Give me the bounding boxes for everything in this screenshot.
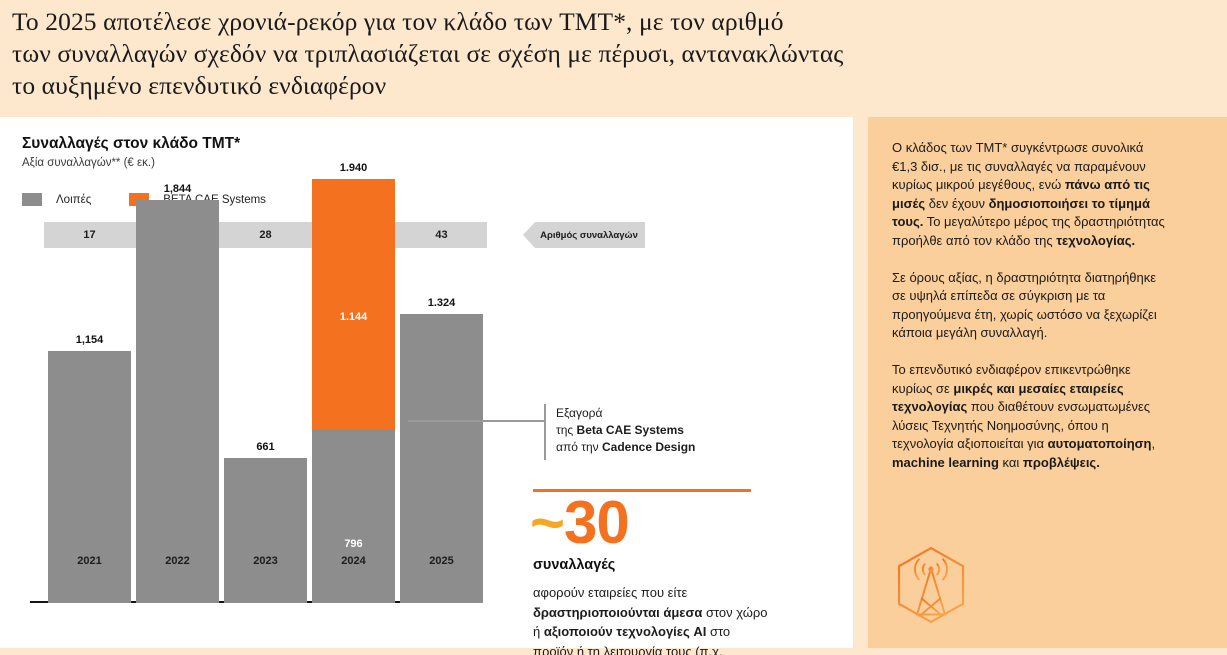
annotation-line-3: από την Cadence Design (556, 439, 806, 456)
bar-label-orange-2024: 1.144 (312, 311, 395, 323)
bar-total-2021: 1,154 (48, 334, 131, 346)
x-tick-2023: 2023 (224, 555, 307, 567)
bar-total-2024: 1.940 (312, 162, 395, 174)
x-tick-2025: 2025 (400, 555, 483, 567)
chart-title: Συναλλαγές στον κλάδο TMT* (22, 135, 240, 153)
commentary-paragraph-3: Το επενδυτικό ενδιαφέρον επικεντρώθηκε κ… (892, 361, 1172, 473)
deal-count-row: 17 29 28 15 43 (0, 222, 500, 248)
chart-subtitle: Αξία συναλλαγών** (€ εκ.) (22, 157, 155, 169)
legend-item-loipes: Λοιπές (22, 193, 91, 206)
deal-count-2025: 43 (396, 222, 487, 248)
annotation-line-2: της Beta CAE Systems (556, 422, 806, 439)
x-tick-2024: 2024 (312, 555, 395, 567)
legend-label-loipes: Λοιπές (56, 194, 91, 206)
bar-total-2023: 661 (224, 441, 307, 453)
slide-root: Το 2025 αποτέλεσε χρονιά-ρεκόρ για τον κ… (0, 0, 1227, 655)
commentary-paragraph-1: Ο κλάδος των TMT* συγκέντρωσε συνολικά €… (892, 139, 1172, 251)
deal-count-tag: Αριθμός συναλλαγών (523, 222, 645, 248)
x-tick-2022: 2022 (136, 555, 219, 567)
x-tick-2021: 2021 (48, 555, 131, 567)
annotation-text: Εξαγορά της Beta CAE Systems από την Cad… (556, 405, 806, 456)
bar-2025[interactable]: 1.324 2025 (400, 314, 483, 603)
annotation-beta-cae: Beta CAE Systems (577, 423, 684, 437)
bar-segment-grey-2022 (136, 200, 219, 603)
commentary-panel: Ο κλάδος των TMT* συγκέντρωσε συνολικά €… (868, 117, 1227, 648)
bar-label-grey-2024: 796 (312, 538, 395, 550)
annotation-leader-line (408, 420, 544, 422)
callout-word: συναλλαγές (533, 557, 615, 573)
bar-segment-orange-2024 (312, 179, 395, 429)
annotation-leader-vertical (544, 404, 546, 460)
annotation-cadence: Cadence Design (602, 440, 695, 454)
bar-2023[interactable]: 661 2023 (224, 458, 307, 603)
callout-value: 30 (564, 489, 629, 556)
callout-number: ~30 (530, 494, 629, 552)
headline-line-1: Το 2025 αποτέλεσε χρονιά-ρεκόρ για τον κ… (12, 6, 1072, 38)
chart-card: Συναλλαγές στον κλάδο TMT* Αξία συναλλαγ… (0, 117, 853, 648)
bar-2021[interactable]: 1,154 2021 (48, 351, 131, 603)
callout-body: αφορούν εταιρείες που είτε δραστηριοποιο… (533, 583, 768, 655)
headline-line-2: των συναλλαγών σχεδόν να τριπλασιάζεται … (12, 38, 1072, 70)
headline-line-3: το αυξημένο επενδυτικό ενδιαφέρον (12, 70, 1072, 102)
legend-swatch-grey (22, 193, 42, 206)
bar-total-2022: 1,844 (136, 183, 219, 195)
bar-2022[interactable]: 1,844 2022 (136, 200, 219, 603)
annotation-line-1: Εξαγορά (556, 405, 806, 422)
commentary-text: Ο κλάδος των TMT* συγκέντρωσε συνολικά €… (892, 139, 1172, 491)
bar-segment-grey-2024 (312, 429, 395, 603)
bar-segment-grey-2023 (224, 458, 307, 603)
deal-count-2021: 17 (44, 222, 135, 248)
deal-count-2023: 28 (220, 222, 311, 248)
antenna-tower-logo (890, 544, 972, 626)
callout-tilde: ~ (530, 489, 564, 556)
bar-2024[interactable]: 796 1.144 1.940 2024 (312, 179, 395, 603)
bar-chart-plot: 1,154 2021 1,844 2022 661 2023 796 1.144 (0, 267, 500, 655)
bar-total-2025: 1.324 (400, 297, 483, 309)
page-title: Το 2025 αποτέλεσε χρονιά-ρεκόρ για τον κ… (12, 6, 1072, 102)
commentary-paragraph-2: Σε όρους αξίας, η δραστηριότητα διατηρήθ… (892, 269, 1172, 343)
